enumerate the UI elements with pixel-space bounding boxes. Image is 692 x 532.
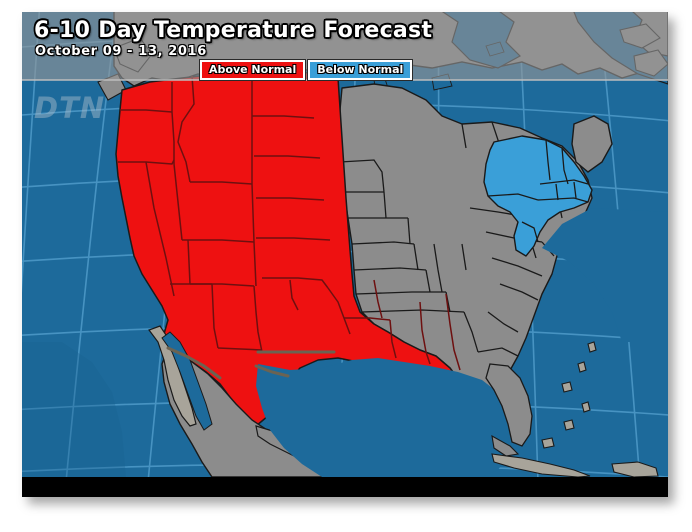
forecast-map-graphic: 6-10 Day Temperature Forecast October 09… xyxy=(22,12,668,497)
forecast-date-range: October 09 - 13, 2016 xyxy=(35,44,207,59)
legend: Above Normal Below Normal xyxy=(200,60,412,80)
legend-item-below-normal[interactable]: Below Normal xyxy=(308,60,412,80)
page-title: 6-10 Day Temperature Forecast xyxy=(34,18,432,43)
legend-item-above-normal[interactable]: Above Normal xyxy=(200,60,305,80)
north-america-map xyxy=(22,12,668,477)
map-viewport[interactable]: 6-10 Day Temperature Forecast October 09… xyxy=(22,12,668,477)
bottom-black-band xyxy=(22,477,668,497)
screenshot-root: 6-10 Day Temperature Forecast October 09… xyxy=(0,0,692,532)
